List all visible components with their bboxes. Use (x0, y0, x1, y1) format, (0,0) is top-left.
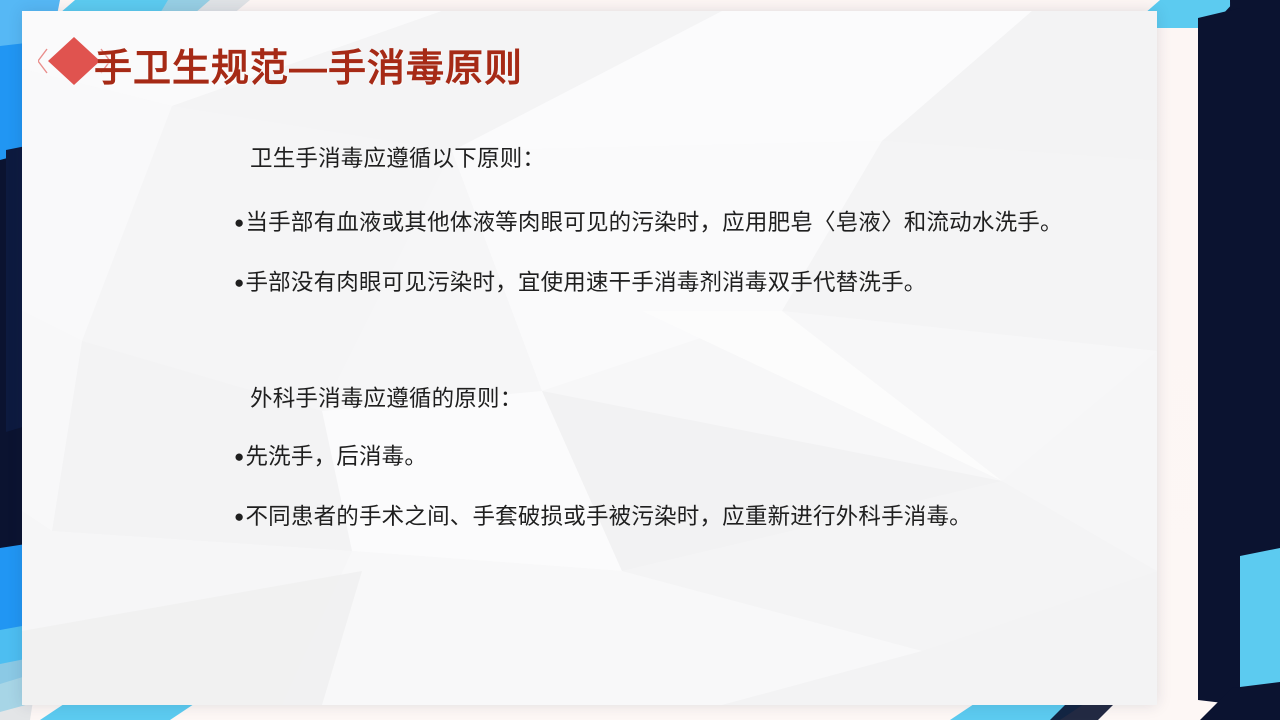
bullet-marker-icon: ● (234, 447, 244, 466)
slide-header: 手卫生规范—手消毒原则 (22, 11, 1157, 107)
slide-card: 手卫生规范—手消毒原则 卫生手消毒应遵循以下原则： ●当手部有血液或其他体液等肉… (22, 11, 1157, 705)
slide-body: 卫生手消毒应遵循以下原则： ●当手部有血液或其他体液等肉眼可见的污染时，应用肥皂… (234, 139, 1094, 557)
section-spacer (234, 323, 1094, 379)
slide-root: 手卫生规范—手消毒原则 卫生手消毒应遵循以下原则： ●当手部有血液或其他体液等肉… (0, 0, 1280, 720)
section1-bullet-2: ●手部没有肉眼可见污染时，宜使用速干手消毒剂消毒双手代替洗手。 (234, 263, 1094, 303)
section1-bullet-1-text: 当手部有血液或其他体液等肉眼可见的污染时，应用肥皂〈皂液〉和流动水洗手。 (245, 210, 1062, 235)
section1-bullet-1: ●当手部有血液或其他体液等肉眼可见的污染时，应用肥皂〈皂液〉和流动水洗手。 (234, 203, 1094, 243)
section1-lead: 卫生手消毒应遵循以下原则： (234, 139, 1094, 179)
section2-bullet-2: ●不同患者的手术之间、手套破损或手被污染时，应重新进行外科手消毒。 (234, 497, 1094, 537)
section1-bullet-2-text: 手部没有肉眼可见污染时，宜使用速干手消毒剂消毒双手代替洗手。 (245, 270, 926, 295)
bullet-marker-icon: ● (234, 213, 244, 232)
bullet-marker-icon: ● (234, 273, 244, 292)
section2-bullet-1: ●先洗手，后消毒。 (234, 437, 1094, 477)
bullet-marker-icon: ● (234, 507, 244, 526)
page-title: 手卫生规范—手消毒原则 (94, 37, 523, 92)
section2-lead: 外科手消毒应遵循的原则： (234, 379, 1094, 419)
section2-bullet-2-text: 不同患者的手术之间、手套破损或手被污染时，应重新进行外科手消毒。 (245, 504, 971, 529)
section2-bullet-1-text: 先洗手，后消毒。 (245, 444, 427, 469)
